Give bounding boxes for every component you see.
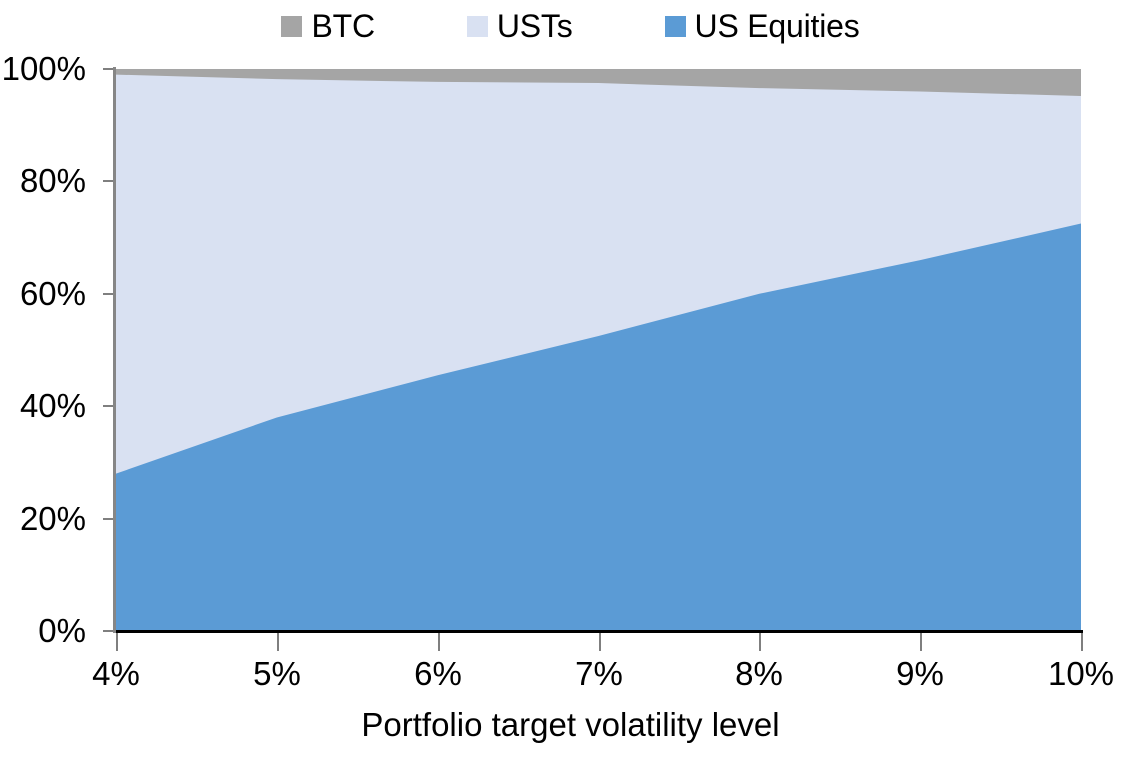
plot-area	[116, 69, 1081, 631]
legend-label-us-equities: US Equities	[695, 10, 860, 42]
legend-item-usts[interactable]: USTs	[467, 10, 573, 42]
x-axis-label-7: 7%	[575, 656, 623, 692]
x-axis-label-4: 4%	[92, 656, 140, 692]
chart-legend: BTC USTs US Equities	[0, 4, 1141, 48]
legend-swatch-usts	[467, 16, 488, 37]
y-axis-label-40: 40%	[0, 389, 86, 422]
x-axis-label-6: 6%	[414, 656, 462, 692]
legend-label-btc: BTC	[311, 10, 374, 42]
area-chart: BTC USTs US Equities 100% 80% 60% 40% 20…	[0, 0, 1141, 763]
legend-swatch-us-equities	[665, 16, 686, 37]
x-axis-tick-8	[759, 633, 761, 651]
x-axis-label-8: 8%	[735, 656, 783, 692]
x-axis-title: Portfolio target volatility level	[0, 706, 1141, 744]
legend-item-btc[interactable]: BTC	[281, 10, 374, 42]
y-axis-label-60: 60%	[0, 277, 86, 310]
x-axis-tick-6	[438, 633, 440, 651]
x-axis-tick-5	[277, 633, 279, 651]
legend-swatch-btc	[281, 16, 302, 37]
x-axis-tick-10	[1081, 633, 1083, 651]
plot-svg	[116, 69, 1081, 631]
y-axis-label-80: 80%	[0, 164, 86, 197]
y-axis-label-20: 20%	[0, 502, 86, 535]
x-axis-label-10: 10%	[1048, 656, 1114, 692]
y-axis-label-100: 100%	[0, 52, 86, 85]
x-axis-tick-4	[116, 633, 118, 651]
legend-item-us-equities[interactable]: US Equities	[665, 10, 860, 42]
x-axis-label-9: 9%	[896, 656, 944, 692]
x-axis-tick-9	[920, 633, 922, 651]
y-axis-label-0: 0%	[0, 614, 86, 647]
x-axis-tick-7	[599, 633, 601, 651]
legend-label-usts: USTs	[497, 10, 573, 42]
x-axis-label-5: 5%	[253, 656, 301, 692]
